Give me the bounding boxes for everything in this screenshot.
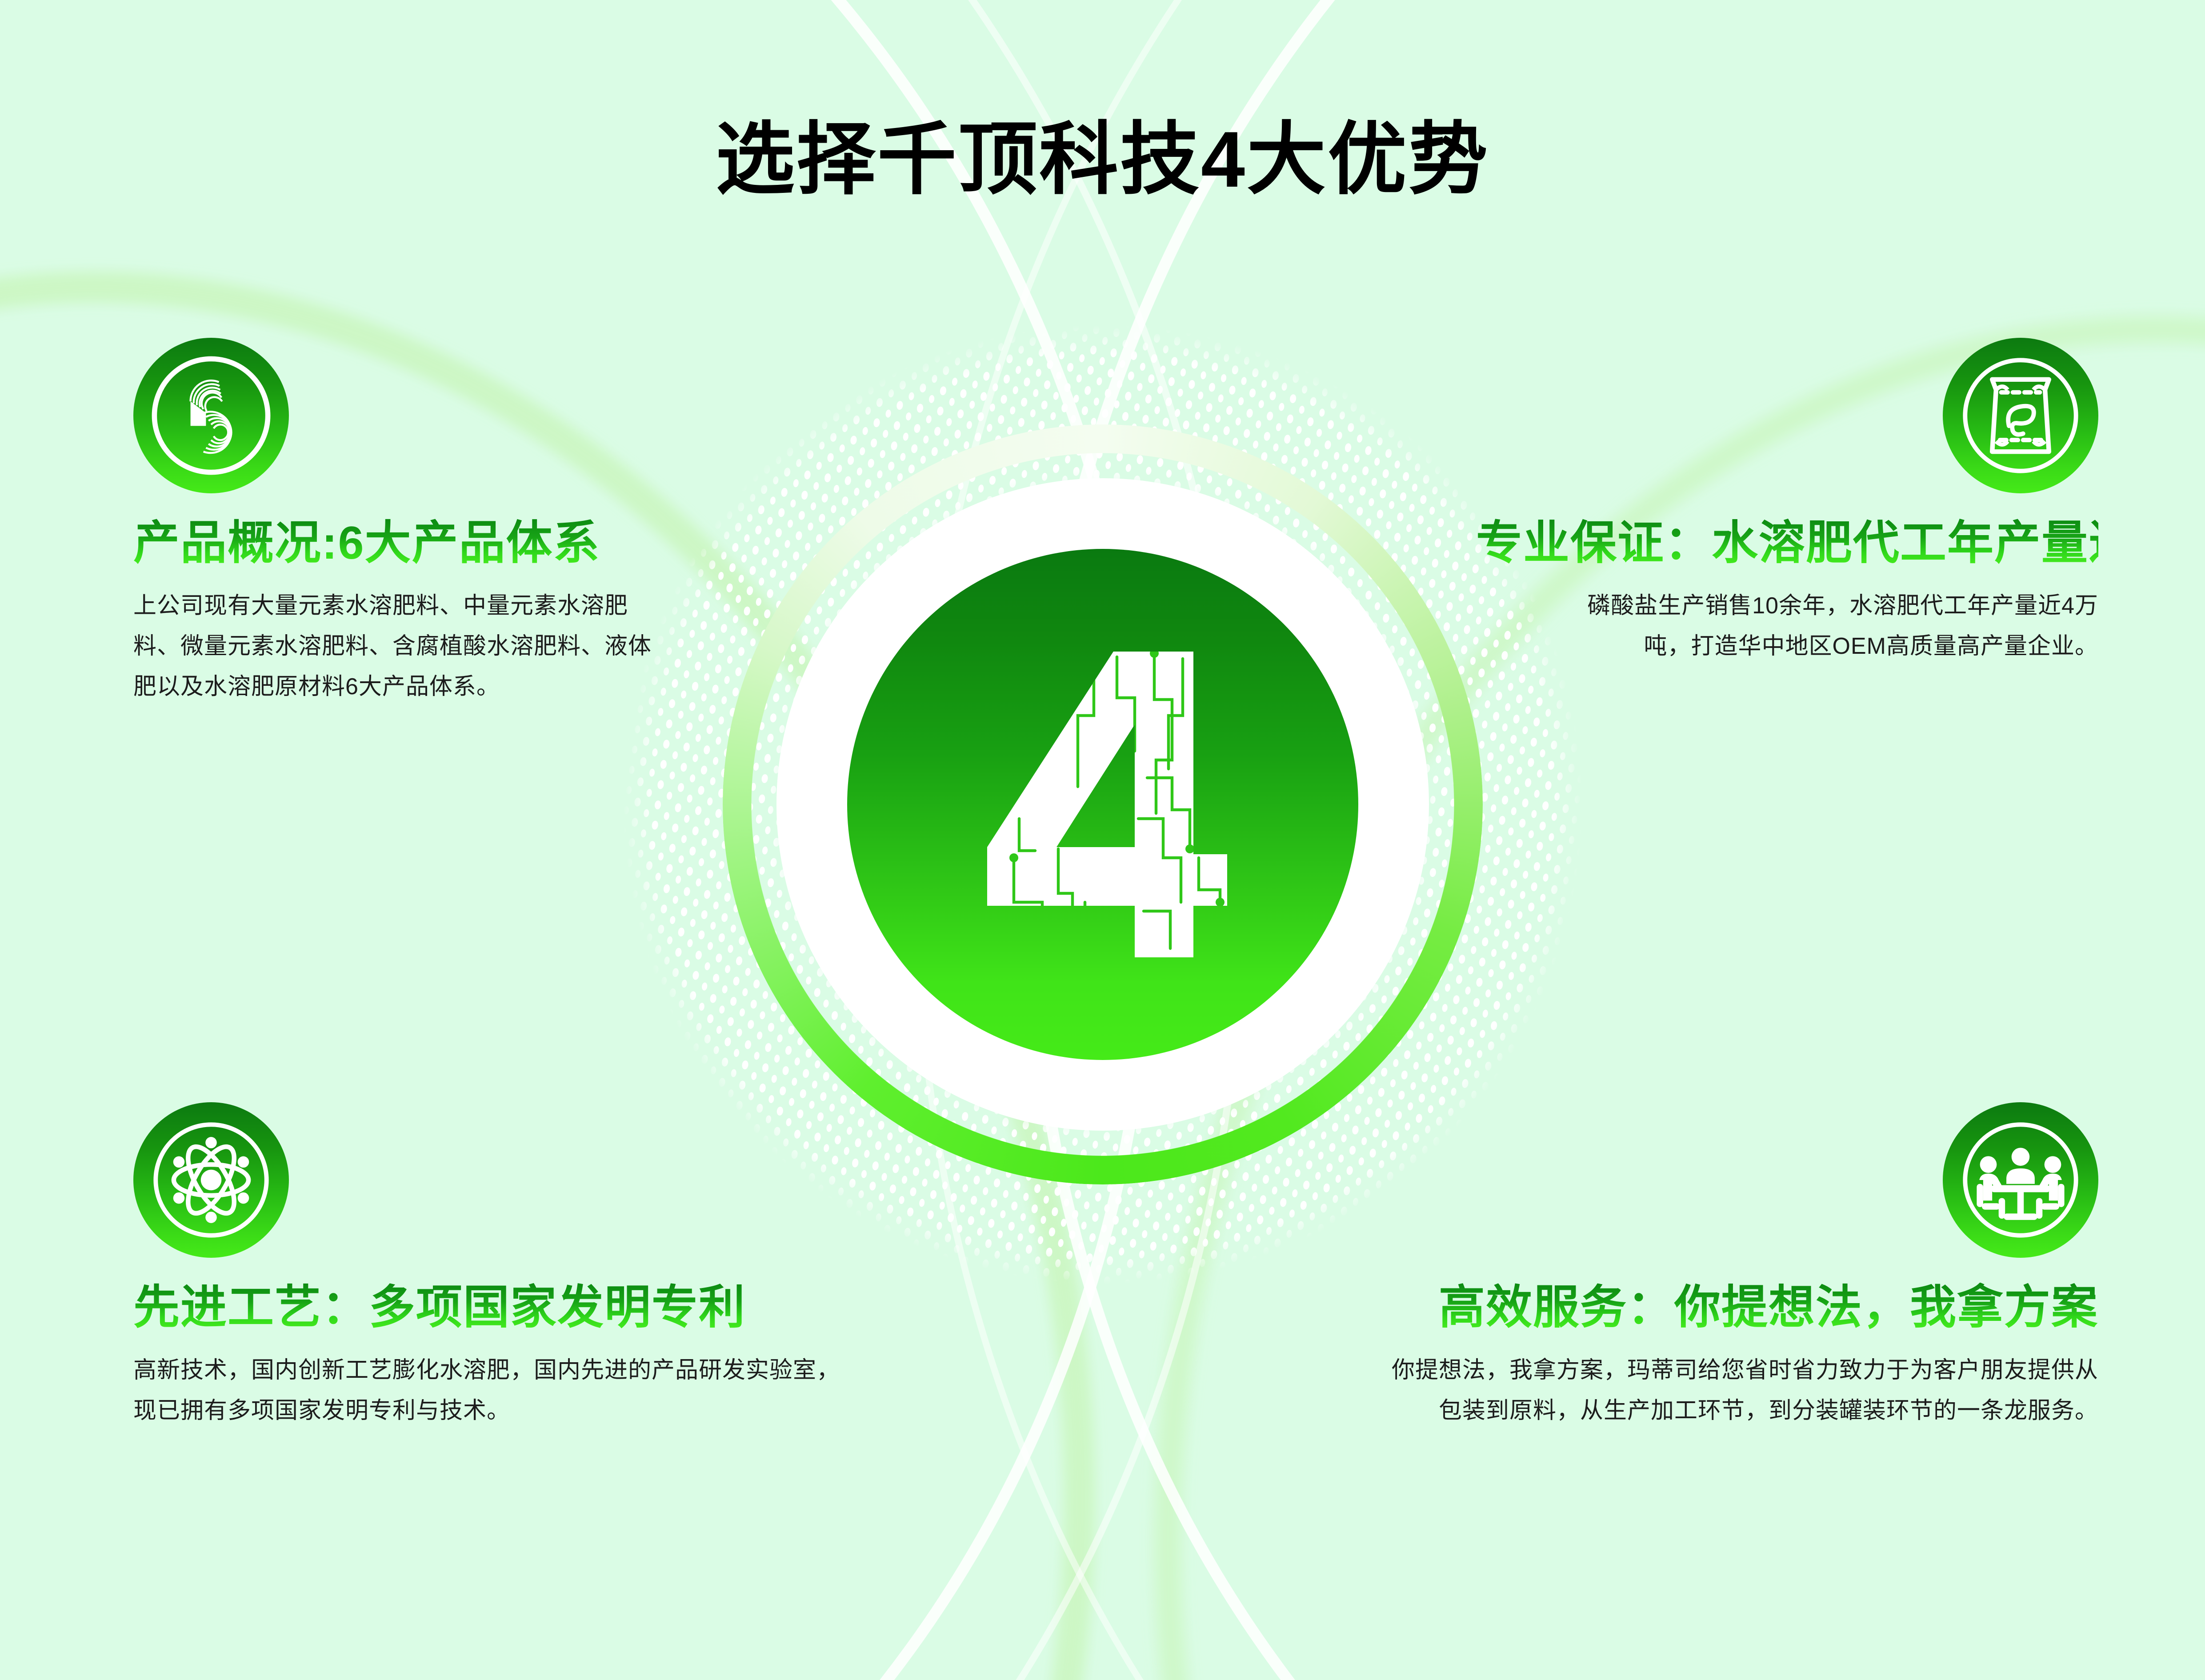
feature-block-top-right: 专业保证：水溶肥代工年产量近4万吨 磷酸盐生产销售10余年，水溶肥代工年产量近4… [1476,338,2098,667]
feature-icon-badge-top-left [133,338,289,493]
feature-block-top-left: 产品概况:6大产品体系 上公司现有大量元素水溶肥料、中量元素水溶肥料、微量元素水… [133,338,698,707]
feature-body-top-right: 磷酸盐生产销售10余年，水溶肥代工年产量近4万吨，打造华中地区OEM高质量高产量… [1574,586,2098,667]
number-six-rings-icon [147,351,276,480]
fertilizer-bag-icon [1956,351,2085,480]
page-title: 选择千顶科技4大优势 [0,96,2205,210]
number-four-circuit-icon [960,636,1245,973]
feature-body-top-left: 上公司现有大量元素水溶肥料、中量元素水溶肥料、微量元素水溶肥料、含腐植酸水溶肥料… [133,586,671,707]
center-number-disc [847,549,1358,1060]
feature-block-bottom-right: 高效服务：你提想法，我拿方案 你提想法，我拿方案，玛蒂司给您省时省力致力于为客户… [1347,1102,2098,1431]
feature-heading-bottom-right: 高效服务：你提想法，我拿方案 [1347,1283,2098,1332]
feature-heading-top-right: 专业保证：水溶肥代工年产量近4万吨 [1476,518,2098,568]
feature-heading-top-left: 产品概况:6大产品体系 [133,518,698,568]
feature-block-bottom-left: 先进工艺：多项国家发明专利 高新技术，国内创新工艺膨化水溶肥，国内先进的产品研发… [133,1102,862,1431]
atom-icon [147,1116,276,1244]
meeting-table-people-icon [1956,1116,2085,1244]
feature-body-bottom-right: 你提想法，我拿方案，玛蒂司给您省时省力致力于为客户朋友提供从包装到原料，从生产加… [1387,1350,2098,1431]
feature-icon-badge-bottom-right [1943,1102,2098,1258]
feature-body-bottom-left: 高新技术，国内创新工艺膨化水溶肥，国内先进的产品研发实验室，现已拥有多项国家发明… [133,1350,853,1431]
feature-icon-badge-top-right [1943,338,2098,493]
feature-icon-badge-bottom-left [133,1102,289,1258]
feature-heading-bottom-left: 先进工艺：多项国家发明专利 [133,1283,862,1332]
